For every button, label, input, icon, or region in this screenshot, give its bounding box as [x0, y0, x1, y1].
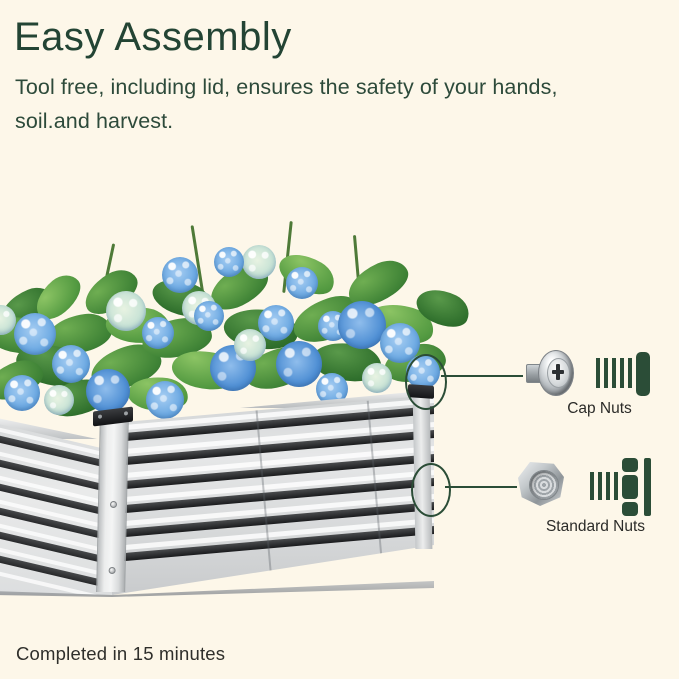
page-title: Easy Assembly [14, 14, 292, 60]
standard-nut-leader-line [445, 486, 517, 488]
cap-nut-diagram-icon [596, 352, 658, 396]
cap-nut-highlight-marker [405, 354, 447, 410]
screw-cross-recess [552, 364, 564, 380]
hex-nut-thread-bore [529, 470, 559, 500]
corner-post [96, 417, 129, 592]
cap-nut-leader-line [441, 375, 523, 377]
callout-cap-nuts: Cap Nuts [520, 348, 679, 420]
page-subtitle: Tool free, including lid, ensures the sa… [15, 70, 635, 138]
infographic-page: Easy Assembly Tool free, including lid, … [0, 0, 679, 679]
callout-standard-nuts: Standard Nuts [512, 458, 679, 538]
box-face-right [112, 395, 434, 595]
standard-nut-highlight-marker [411, 463, 451, 517]
hydrangea-foliage [0, 195, 456, 410]
standard-nut-diagram-icon [590, 458, 662, 516]
completion-note: Completed in 15 minutes [16, 643, 225, 665]
screw-cap-nut-photo [526, 350, 572, 396]
callout-label-cap-nuts: Cap Nuts [520, 400, 679, 418]
callout-label-standard-nuts: Standard Nuts [512, 518, 679, 536]
raised-garden-bed [0, 395, 434, 595]
hex-nut-photo [516, 462, 564, 506]
